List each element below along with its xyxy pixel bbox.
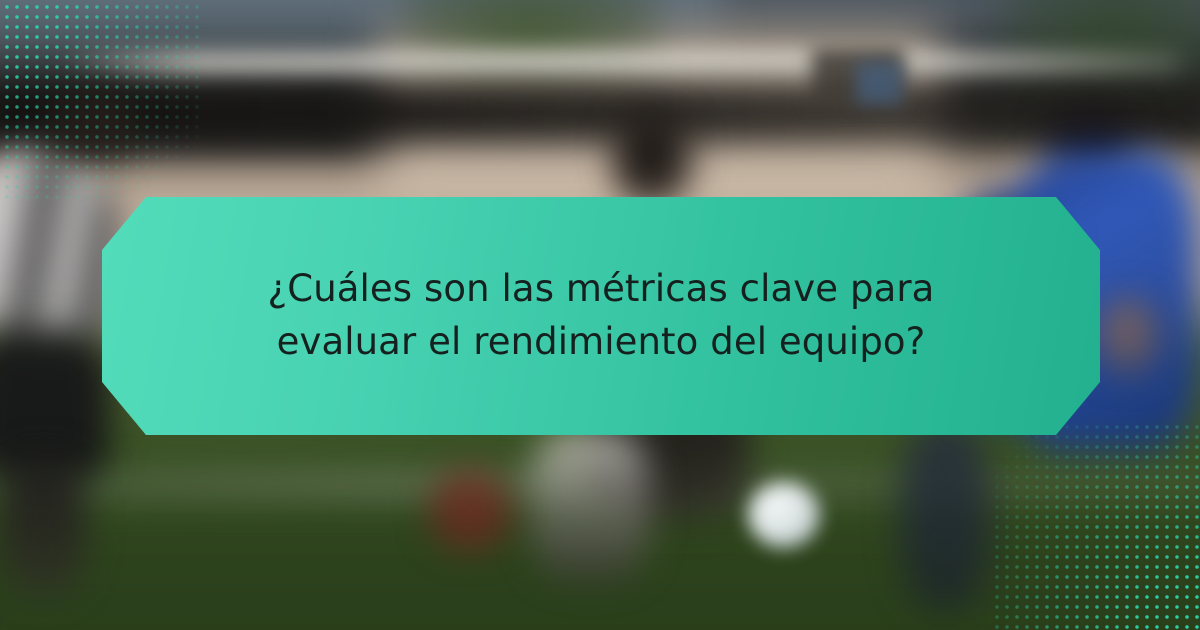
player-center-head (612, 112, 692, 204)
halftone-dots-top-left (0, 0, 200, 200)
background-rail (60, 52, 1180, 78)
headline-text: ¿Cuáles son las métricas clave para eval… (181, 263, 1021, 368)
player-right-leg (900, 420, 990, 610)
player-center-sock (430, 470, 510, 550)
halftone-dots-bottom-right (990, 420, 1200, 630)
player-right-face (1096, 296, 1162, 376)
background-window-pane (856, 62, 902, 104)
player-left-leg (0, 455, 86, 595)
headline-banner: ¿Cuáles son las métricas clave para eval… (102, 197, 1100, 435)
player-center-legs (530, 430, 650, 580)
soccer-ball (748, 482, 820, 548)
social-card-canvas: ¿Cuáles son las métricas clave para eval… (0, 0, 1200, 630)
